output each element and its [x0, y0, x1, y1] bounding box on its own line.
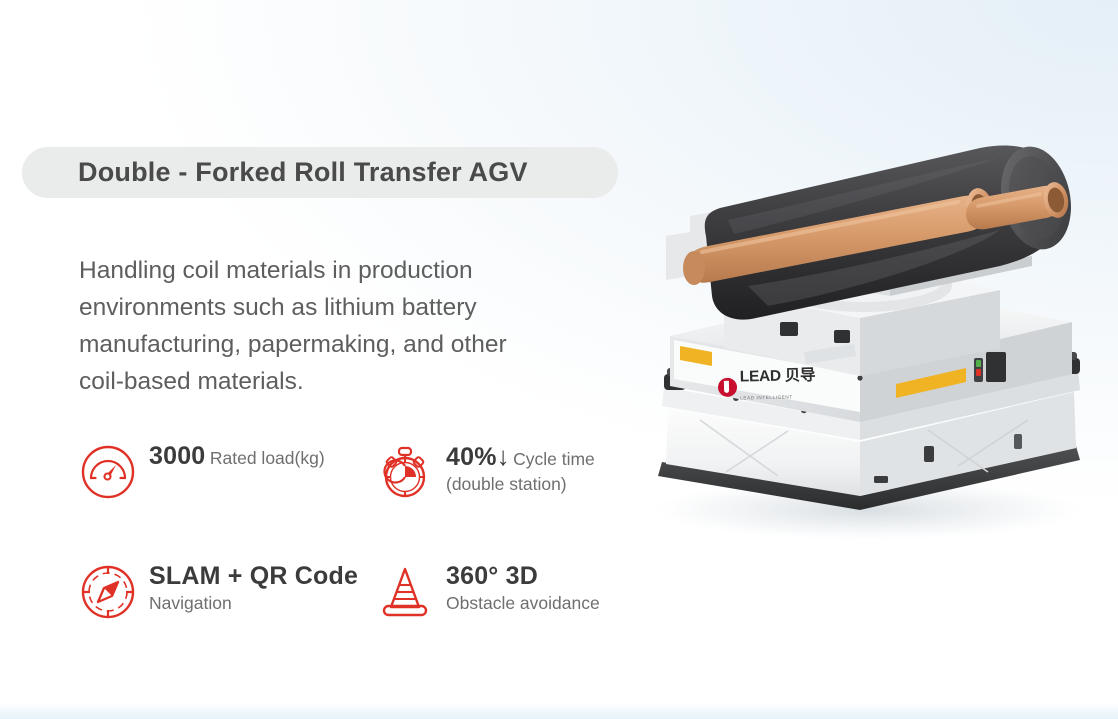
description-line-2: environments such as lithium battery [79, 289, 639, 326]
spec-obstacle-avoidance: 360° 3D Obstacle avoidance [376, 560, 676, 621]
description-line-3: manufacturing, papermaking, and other [79, 326, 639, 363]
spec-label: Obstacle avoidance [446, 593, 600, 613]
description: Handling coil materials in production en… [79, 252, 639, 400]
spec-row-1: 3000 Rated load(kg) [79, 440, 679, 560]
spec-value: SLAM + QR Code [149, 562, 358, 590]
description-line-4: coil-based materials. [79, 363, 639, 400]
compass-icon [79, 563, 137, 621]
spec-cycle-time: 40%↓ Cycle time (double station) [376, 440, 676, 560]
spec-label-line-1: Cycle time [513, 449, 595, 469]
spec-row-2: SLAM + QR Code Navigation 360° 3D [79, 560, 679, 621]
title-pill: Double - Forked Roll Transfer AGV [22, 147, 618, 198]
spec-label: Navigation [149, 593, 232, 613]
spec-value: 360° 3D [446, 562, 538, 590]
spec-grid: 3000 Rated load(kg) [79, 440, 679, 621]
bottom-gradient-band [0, 703, 1118, 719]
spec-value-number: 40% [446, 443, 497, 471]
brand-logo-name: LEAD 贝导 [740, 367, 816, 386]
traffic-cone-icon [376, 563, 434, 621]
product-image [628, 90, 1118, 550]
gauge-icon [79, 443, 137, 501]
spec-body: SLAM + QR Code Navigation [149, 560, 376, 615]
description-line-1: Handling coil materials in production [79, 252, 639, 289]
page-title: Double - Forked Roll Transfer AGV [78, 157, 528, 188]
spec-navigation: SLAM + QR Code Navigation [79, 560, 376, 621]
spec-body: 3000 Rated load(kg) [149, 440, 325, 471]
spec-value: 40%↓ [446, 443, 509, 471]
spec-body: 40%↓ Cycle time (double station) [446, 440, 676, 496]
lead-logo-mark [718, 377, 737, 396]
spec-rated-load: 3000 Rated load(kg) [79, 440, 376, 560]
spec-value: 3000 [149, 442, 205, 470]
stopwatch-icon [376, 443, 434, 501]
spec-label: Rated load(kg) [210, 448, 325, 468]
spec-body: 360° 3D Obstacle avoidance [446, 560, 676, 615]
brand-logo: LEAD 贝导 LEAD INTELLIGENT [718, 367, 816, 405]
slide-canvas: LEAD 贝导 LEAD INTELLIGENT Double - Forked… [0, 0, 1118, 719]
brand-logo-tagline: LEAD INTELLIGENT [740, 394, 793, 400]
down-arrow-icon: ↓ [497, 441, 509, 471]
spec-label-line-2: (double station) [446, 474, 567, 494]
